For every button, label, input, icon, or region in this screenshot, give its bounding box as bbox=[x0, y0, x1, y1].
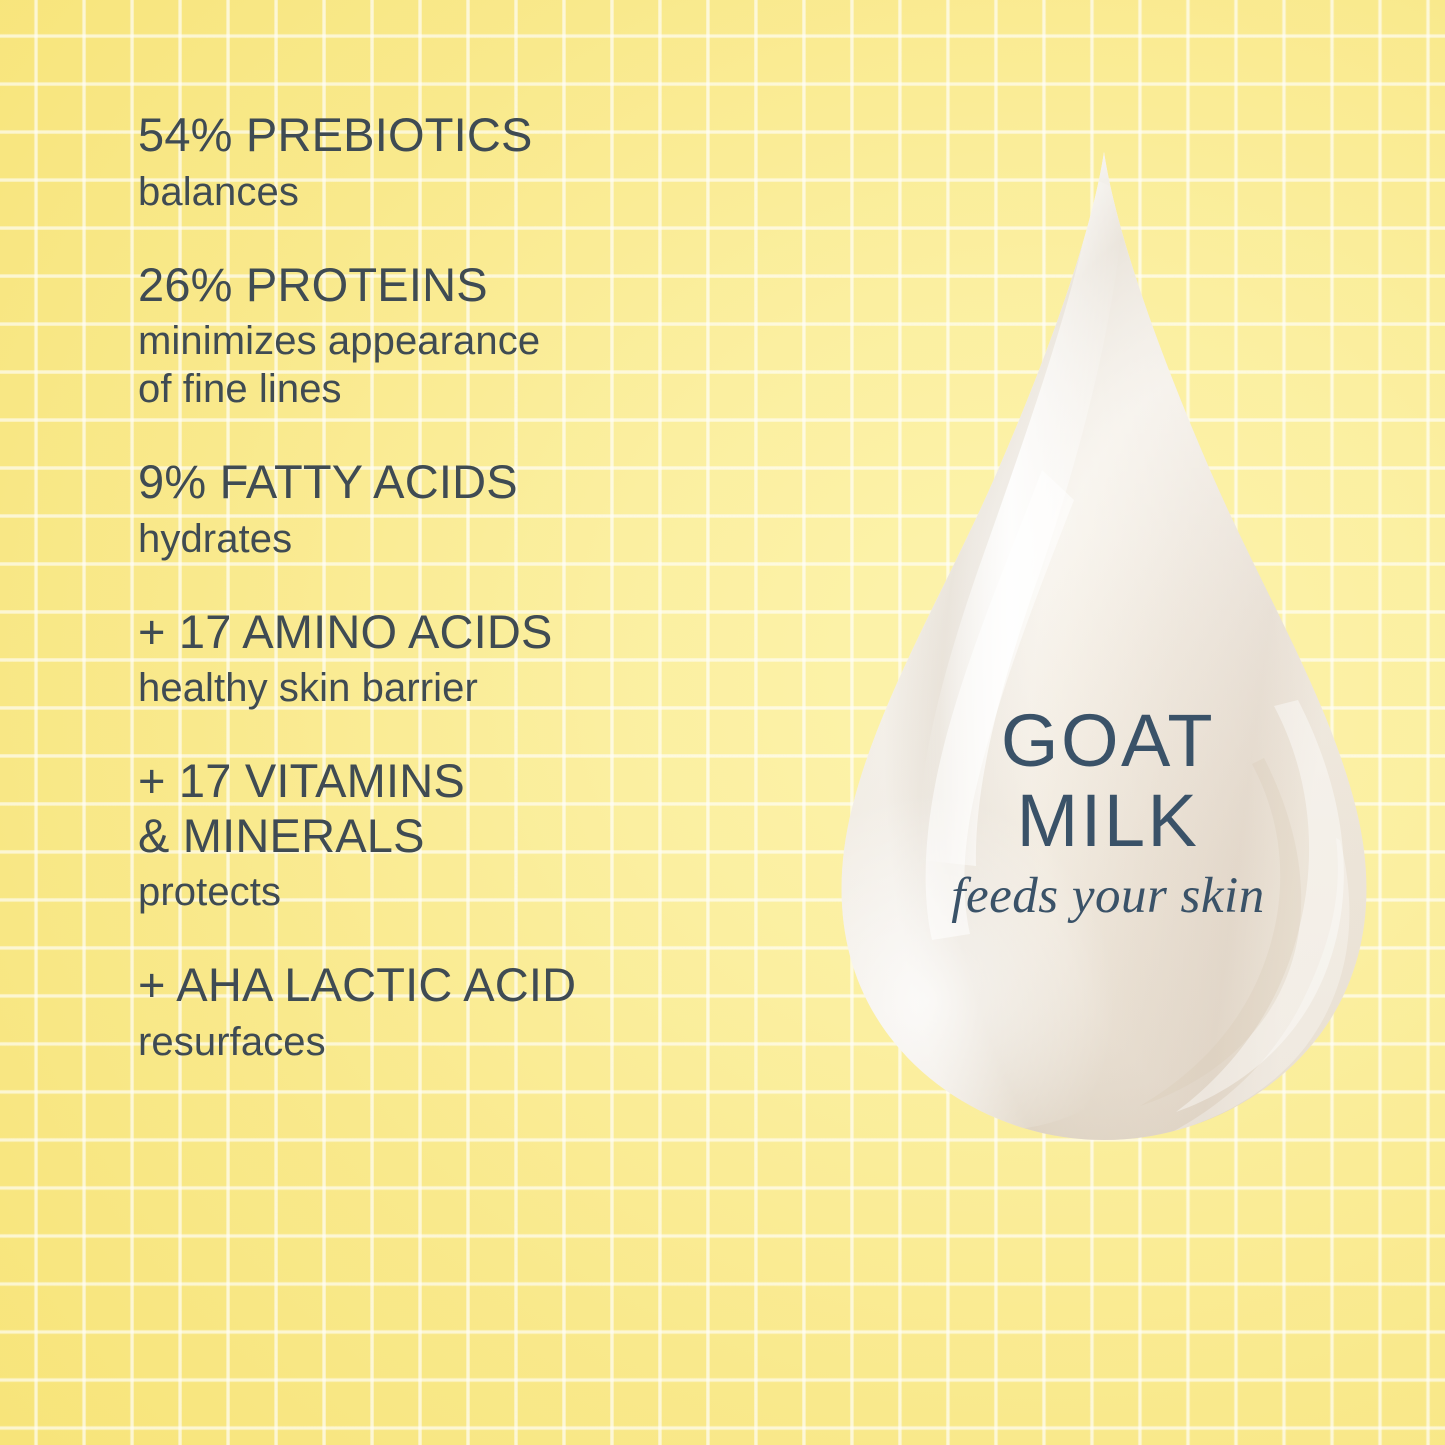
ingredient-item-prebiotics: 54% PREBIOTICS balances bbox=[138, 108, 798, 216]
ingredient-item-amino-acids: + 17 AMINO ACIDS healthy skin barrier bbox=[138, 605, 798, 713]
ingredient-list: 54% PREBIOTICS balances 26% PROTEINS min… bbox=[138, 108, 798, 1066]
ingredient-title: + 17 VITAMINS & MINERALS bbox=[138, 754, 798, 863]
ingredient-benefit: balances bbox=[138, 168, 798, 216]
milk-droplet-icon bbox=[828, 140, 1388, 1170]
ingredient-title: 9% FATTY ACIDS bbox=[138, 455, 798, 510]
ingredient-benefit: protects bbox=[138, 868, 798, 916]
ingredient-title: + AHA LACTIC ACID bbox=[138, 958, 798, 1013]
ingredient-benefit: resurfaces bbox=[138, 1018, 798, 1066]
ingredient-item-proteins: 26% PROTEINS minimizes appearance of fin… bbox=[138, 258, 798, 414]
ingredient-benefit: minimizes appearance of fine lines bbox=[138, 317, 798, 413]
ingredient-item-aha-lactic-acid: + AHA LACTIC ACID resurfaces bbox=[138, 958, 798, 1066]
infographic-canvas: 54% PREBIOTICS balances 26% PROTEINS min… bbox=[0, 0, 1445, 1445]
milk-droplet-graphic: GOAT MILK feeds your skin bbox=[828, 140, 1388, 1170]
ingredient-benefit: healthy skin barrier bbox=[138, 664, 798, 712]
ingredient-item-vitamins-minerals: + 17 VITAMINS & MINERALS protects bbox=[138, 754, 798, 916]
ingredient-benefit: hydrates bbox=[138, 515, 798, 563]
ingredient-item-fatty-acids: 9% FATTY ACIDS hydrates bbox=[138, 455, 798, 563]
ingredient-title: 54% PREBIOTICS bbox=[138, 108, 798, 163]
ingredient-title: 26% PROTEINS bbox=[138, 258, 798, 313]
ingredient-title: + 17 AMINO ACIDS bbox=[138, 605, 798, 660]
